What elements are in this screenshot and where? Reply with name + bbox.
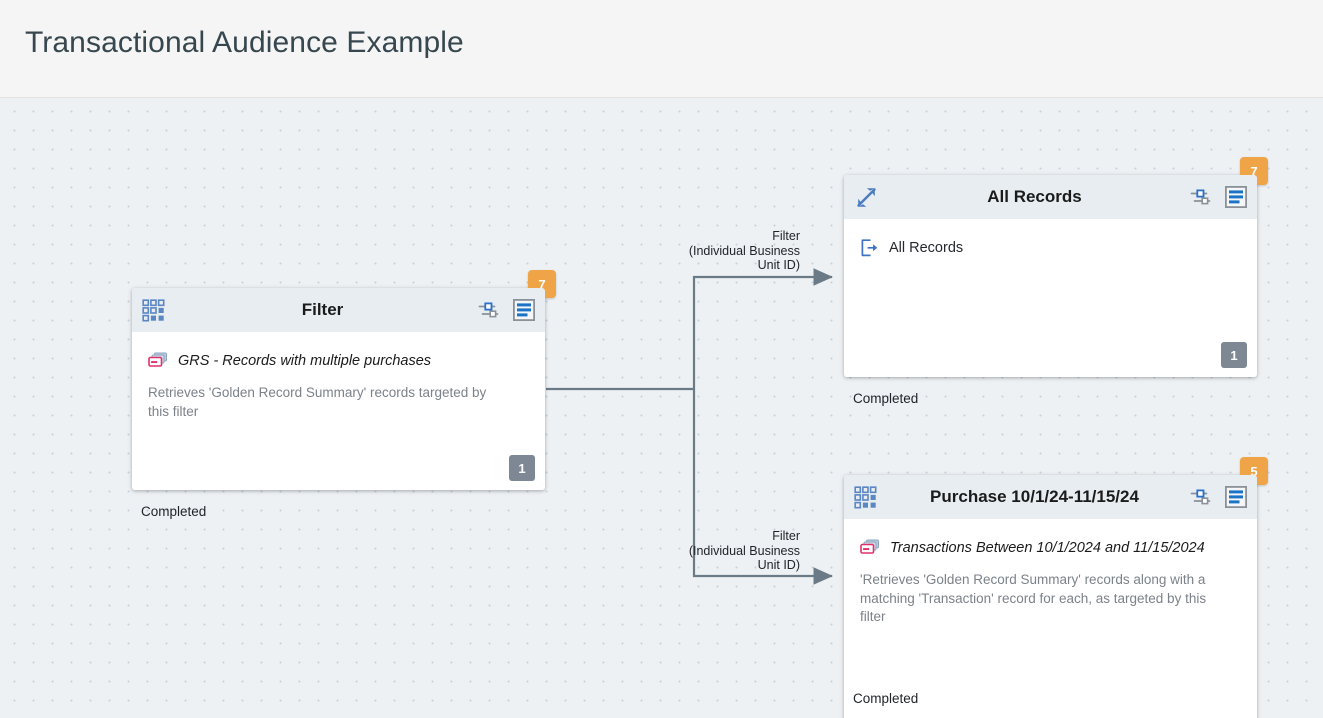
node-all-records-body: All Records 1 bbox=[844, 219, 1257, 377]
edge-label-line-2: (Individual Business bbox=[660, 544, 800, 559]
sliders-settings-icon[interactable] bbox=[1190, 187, 1211, 208]
node-purchase-content-row: Transactions Between 10/1/2024 and 11/15… bbox=[860, 539, 1241, 557]
node-all-records-content-title: All Records bbox=[889, 239, 963, 257]
sliders-settings-icon[interactable] bbox=[478, 300, 499, 321]
edge-label-line-1: Filter bbox=[660, 229, 800, 244]
node-purchase-status: Completed bbox=[853, 691, 918, 706]
node-purchase[interactable]: 5 bbox=[844, 475, 1257, 718]
node-purchase-header: Purchase 10/1/24-11/15/24 bbox=[844, 475, 1257, 519]
workflow-canvas-page: Transactional Audience Example Filter (I… bbox=[0, 0, 1323, 718]
edge-label-line-3: Unit ID) bbox=[660, 558, 800, 573]
export-arrow-icon bbox=[860, 239, 879, 257]
diagram-canvas[interactable]: Filter (Individual Business Unit ID) Fil… bbox=[0, 98, 1323, 718]
node-purchase-description: 'Retrieves 'Golden Record Summary' recor… bbox=[860, 571, 1215, 627]
node-purchase-title: Purchase 10/1/24-11/15/24 bbox=[887, 487, 1182, 507]
list-report-icon[interactable] bbox=[513, 299, 535, 321]
grid-drag-handle-icon[interactable] bbox=[853, 485, 878, 510]
node-filter[interactable]: 7 bbox=[132, 288, 545, 490]
node-filter-body: GRS - Records with multiple purchases Re… bbox=[132, 332, 545, 490]
node-filter-description: Retrieves 'Golden Record Summary' record… bbox=[148, 384, 498, 421]
node-all-records-header: All Records bbox=[844, 175, 1257, 219]
node-purchase-content-title: Transactions Between 10/1/2024 and 11/15… bbox=[890, 539, 1205, 557]
node-all-records-content-row: All Records bbox=[860, 239, 1241, 257]
grid-drag-handle-icon[interactable] bbox=[141, 298, 166, 323]
stacked-records-icon bbox=[148, 352, 168, 368]
list-report-icon[interactable] bbox=[1225, 186, 1247, 208]
stacked-records-icon bbox=[860, 539, 880, 555]
node-filter-status: Completed bbox=[141, 504, 206, 519]
node-all-records-status: Completed bbox=[853, 391, 918, 406]
edge-label-purchase: Filter (Individual Business Unit ID) bbox=[660, 529, 800, 573]
edge-label-line-3: Unit ID) bbox=[660, 258, 800, 273]
sliders-settings-icon[interactable] bbox=[1190, 487, 1211, 508]
node-all-records-count-badge[interactable]: 1 bbox=[1221, 342, 1247, 368]
node-all-records[interactable]: 7 All Records bbox=[844, 175, 1257, 377]
list-report-icon[interactable] bbox=[1225, 486, 1247, 508]
edge-to-all-records bbox=[694, 277, 832, 389]
expand-diagonal-arrows-icon[interactable] bbox=[853, 184, 880, 211]
edge-label-all-records: Filter (Individual Business Unit ID) bbox=[660, 229, 800, 273]
edge-label-line-2: (Individual Business bbox=[660, 244, 800, 259]
edge-label-line-1: Filter bbox=[660, 529, 800, 544]
node-purchase-body: Transactions Between 10/1/2024 and 11/15… bbox=[844, 519, 1257, 718]
node-filter-count-badge[interactable]: 1 bbox=[509, 455, 535, 481]
page-header: Transactional Audience Example bbox=[0, 0, 1323, 98]
node-filter-header: Filter bbox=[132, 288, 545, 332]
node-filter-content-title: GRS - Records with multiple purchases bbox=[178, 352, 431, 370]
page-title: Transactional Audience Example bbox=[25, 26, 464, 60]
node-filter-title: Filter bbox=[175, 300, 470, 320]
node-filter-content-row: GRS - Records with multiple purchases bbox=[148, 352, 529, 370]
node-all-records-title: All Records bbox=[887, 187, 1182, 207]
